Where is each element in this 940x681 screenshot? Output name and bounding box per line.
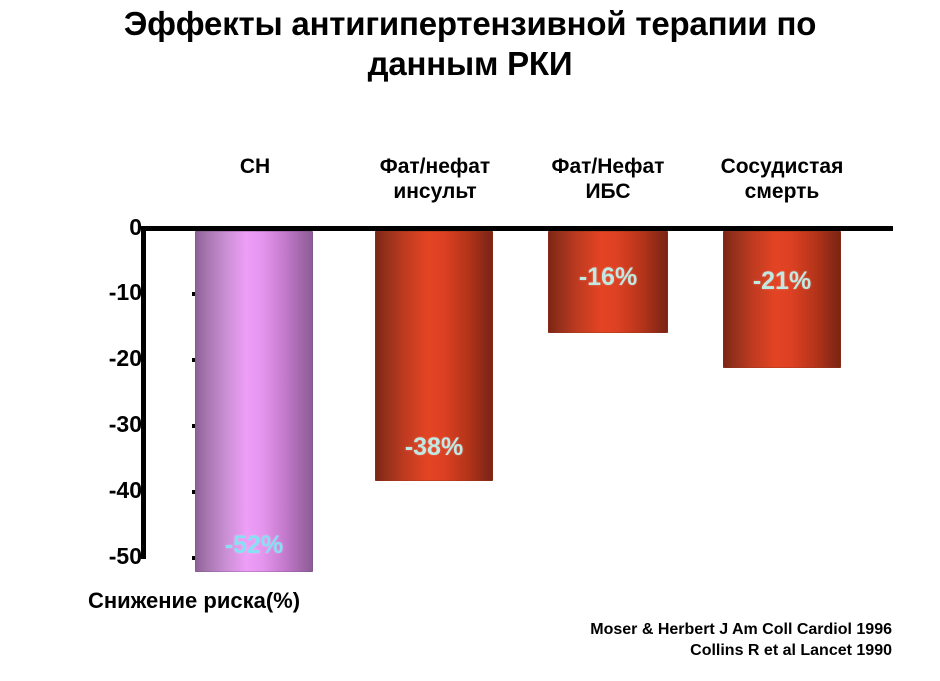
y-axis-caption: Снижение риска(%) xyxy=(88,588,300,614)
y-tick-label-3: -30 xyxy=(86,413,142,436)
references-block: Moser & Herbert J Am Coll Cardiol 1996 C… xyxy=(590,620,892,662)
slide-canvas: Эффекты антигипертензивной терапии по да… xyxy=(0,0,940,681)
reference-1: Collins R et al Lancet 1990 xyxy=(590,641,892,662)
y-axis: 0 -10 -20 -30 -40 -50 xyxy=(62,0,142,681)
bar-value-label-2: -16% xyxy=(548,265,668,290)
reference-0: Moser & Herbert J Am Coll Cardiol 1996 xyxy=(590,620,892,641)
y-tick-label-0: 0 xyxy=(86,216,142,239)
bar-value-label-0: -52% xyxy=(195,533,313,558)
y-tick-label-5: -50 xyxy=(86,545,142,568)
category-label-1: Фат/нефат инсульт xyxy=(355,155,515,204)
category-label-2: Фат/Нефат ИБС xyxy=(528,155,688,204)
category-label-3: Сосудистая смерть xyxy=(702,155,862,204)
bar-chart: СН Фат/нефат инсульт Фат/Нефат ИБС Сосуд… xyxy=(0,0,940,681)
bar-0: -52% xyxy=(195,231,313,572)
bar-value-label-3: -21% xyxy=(723,269,841,294)
x-axis-line xyxy=(141,226,893,231)
y-axis-line xyxy=(141,226,146,559)
y-tick-label-4: -40 xyxy=(86,479,142,502)
bar-1: -38% xyxy=(375,231,493,481)
y-tick-label-2: -20 xyxy=(86,347,142,370)
y-tick-label-1: -10 xyxy=(86,281,142,304)
bar-3: -21% xyxy=(723,231,841,368)
bar-2: -16% xyxy=(548,231,668,333)
category-label-0: СН xyxy=(175,155,335,180)
bar-value-label-1: -38% xyxy=(375,435,493,460)
